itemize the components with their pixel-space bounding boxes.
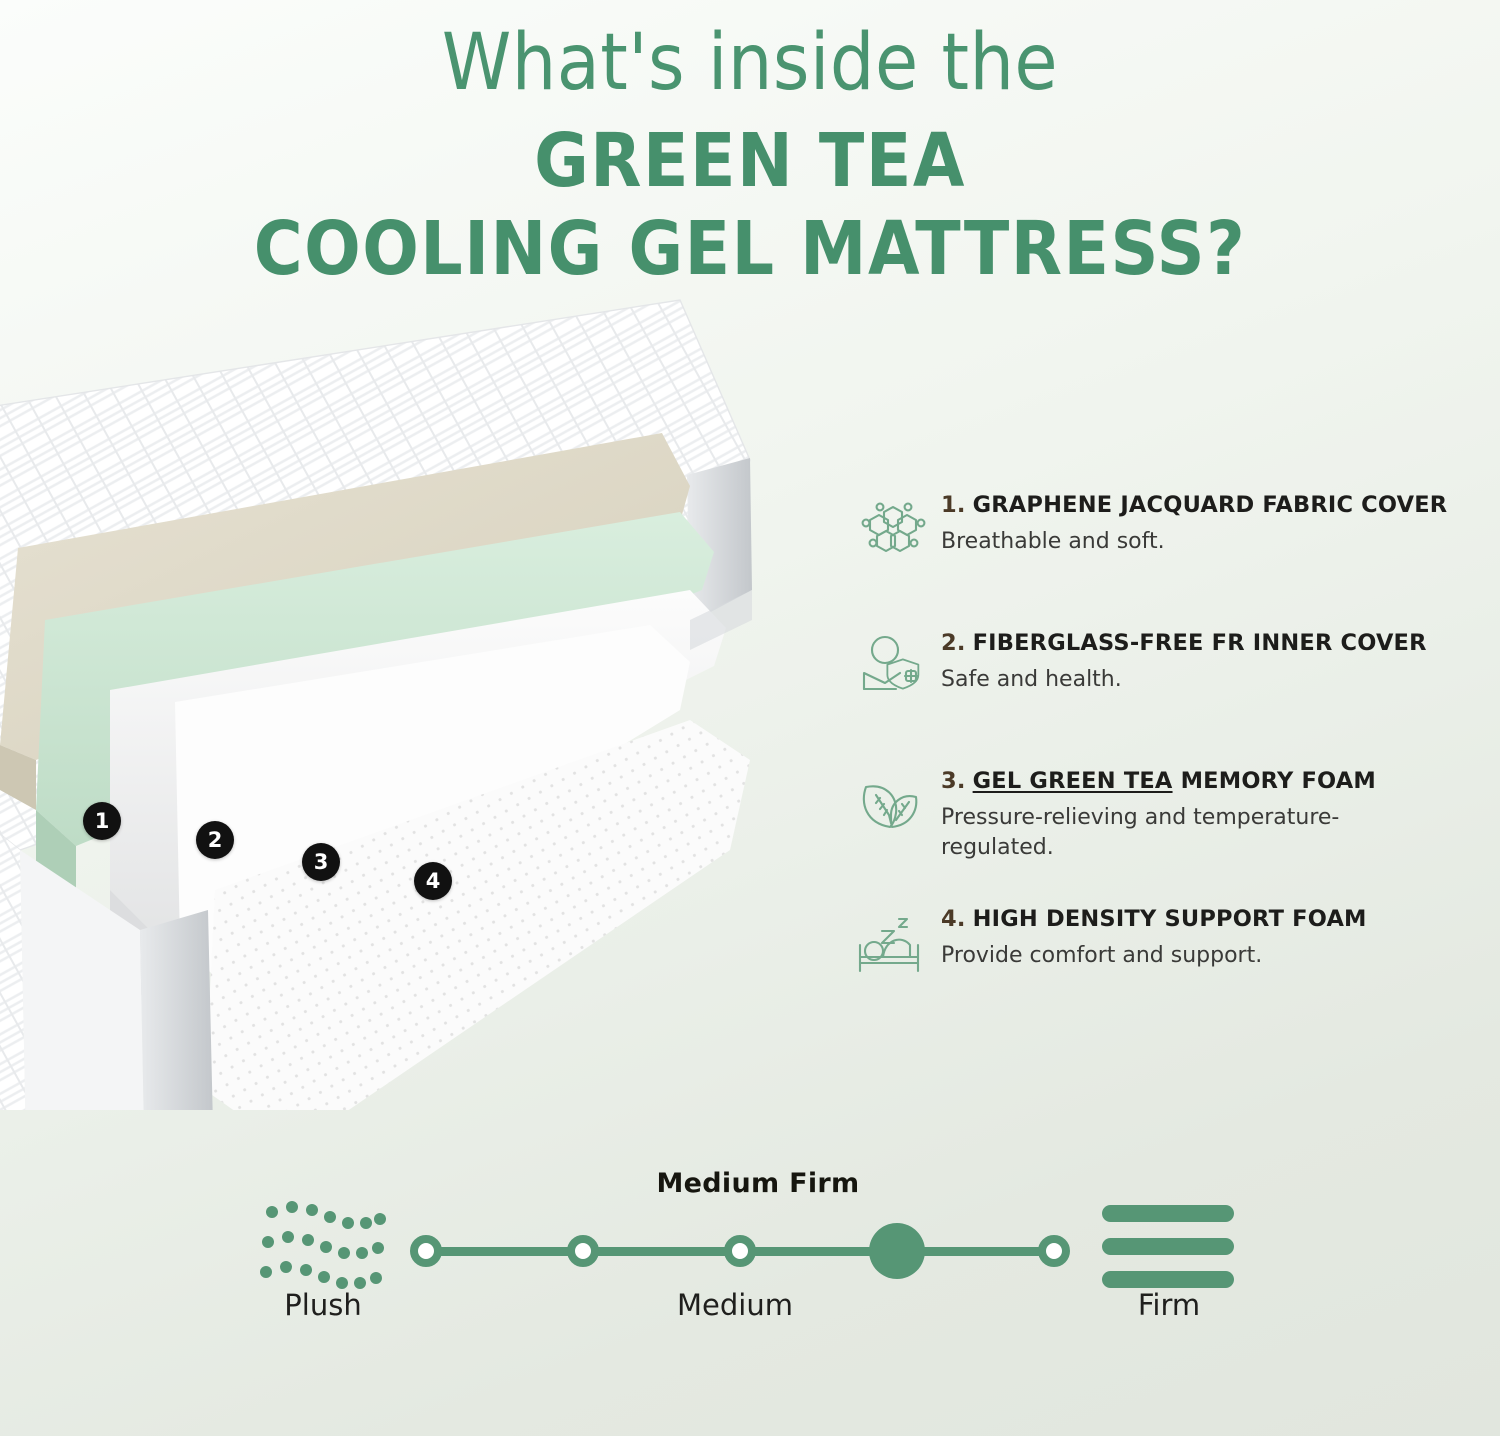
feature-title-2: FIBERGLASS-FREE FR INNER COVER	[973, 630, 1427, 656]
feature-desc-1: Breathable and soft.	[941, 527, 1401, 557]
feature-number-1: 1.	[941, 492, 966, 518]
feature-item-graphene-cover: 1.GRAPHENE JACQUARD FABRIC COVER Breatha…	[845, 487, 1465, 587]
title-line-3: COOLING GEL MATTRESS?	[0, 212, 1500, 286]
firm-bar-3	[1102, 1271, 1234, 1288]
feature-text-1: 1.GRAPHENE JACQUARD FABRIC COVER Breatha…	[941, 487, 1465, 557]
firmness-node-1[interactable]	[410, 1235, 442, 1267]
feature-desc-3: Pressure-relieving and temperature-regul…	[941, 803, 1401, 863]
feature-item-fr-inner-cover: 2.FIBERGLASS-FREE FR INNER COVER Safe an…	[845, 625, 1465, 725]
title-line-1: What's inside the	[0, 24, 1500, 102]
feature-desc-4: Provide comfort and support.	[941, 941, 1401, 971]
firmness-track[interactable]	[400, 1215, 1080, 1285]
layer-badge-1: 1	[83, 802, 121, 840]
page-title: What's inside the GREEN TEA COOLING GEL …	[0, 24, 1500, 286]
feature-list: 1.GRAPHENE JACQUARD FABRIC COVER Breatha…	[845, 487, 1465, 1001]
firmness-label-medium: Medium	[650, 1288, 820, 1322]
sleeping-person-bed-icon	[845, 901, 941, 997]
firm-bars-icon	[1102, 1205, 1234, 1297]
firmness-label-firm: Firm	[1088, 1288, 1250, 1322]
feature-title-4: HIGH DENSITY SUPPORT FOAM	[973, 906, 1367, 932]
feature-number-3: 3.	[941, 768, 966, 794]
feature-title-3-underlined: GEL GREEN TEA	[973, 768, 1173, 794]
feature-title-3-rest: MEMORY FOAM	[1173, 768, 1376, 794]
feature-text-2: 2.FIBERGLASS-FREE FR INNER COVER Safe an…	[941, 625, 1465, 695]
feature-item-gel-green-tea-foam: 3.GEL GREEN TEA MEMORY FOAM Pressure-rel…	[845, 763, 1465, 863]
firmness-node-3[interactable]	[724, 1235, 756, 1267]
feature-title-1: GRAPHENE JACQUARD FABRIC COVER	[973, 492, 1448, 518]
green-tea-leaves-icon	[845, 763, 941, 859]
firmness-selected-label: Medium Firm	[0, 1168, 1500, 1199]
graphene-hexagon-lattice-icon	[845, 487, 941, 583]
product-infographic: What's inside the GREEN TEA COOLING GEL …	[0, 0, 1500, 1436]
layer-badge-3: 3	[302, 843, 340, 881]
layer-badge-2: 2	[196, 821, 234, 859]
firmness-node-4-selected[interactable]	[869, 1223, 925, 1279]
mattress-cutaway-illustration: 1 2 3 4	[0, 290, 780, 1110]
firmness-node-2[interactable]	[567, 1235, 599, 1267]
title-line-2: GREEN TEA	[0, 124, 1500, 198]
firmness-label-plush: Plush	[238, 1288, 408, 1322]
firmness-node-5[interactable]	[1038, 1235, 1070, 1267]
firmness-selected-value: Medium Firm	[657, 1168, 860, 1199]
feature-number-4: 4.	[941, 906, 966, 932]
feature-heading-4: 4.HIGH DENSITY SUPPORT FOAM	[941, 907, 1465, 932]
feature-desc-2: Safe and health.	[941, 665, 1401, 695]
feature-text-4: 4.HIGH DENSITY SUPPORT FOAM Provide comf…	[941, 901, 1465, 971]
layer-badge-4: 4	[414, 862, 452, 900]
person-shield-health-icon	[845, 625, 941, 721]
firm-bar-1	[1102, 1205, 1234, 1222]
plush-dots-icon	[258, 1198, 386, 1298]
feature-heading-3: 3.GEL GREEN TEA MEMORY FOAM	[941, 769, 1465, 794]
feature-heading-1: 1.GRAPHENE JACQUARD FABRIC COVER	[941, 493, 1465, 518]
feature-number-2: 2.	[941, 630, 966, 656]
feature-text-3: 3.GEL GREEN TEA MEMORY FOAM Pressure-rel…	[941, 763, 1465, 863]
feature-item-support-foam: 4.HIGH DENSITY SUPPORT FOAM Provide comf…	[845, 901, 1465, 1001]
firm-bar-2	[1102, 1238, 1234, 1255]
feature-heading-2: 2.FIBERGLASS-FREE FR INNER COVER	[941, 631, 1465, 656]
